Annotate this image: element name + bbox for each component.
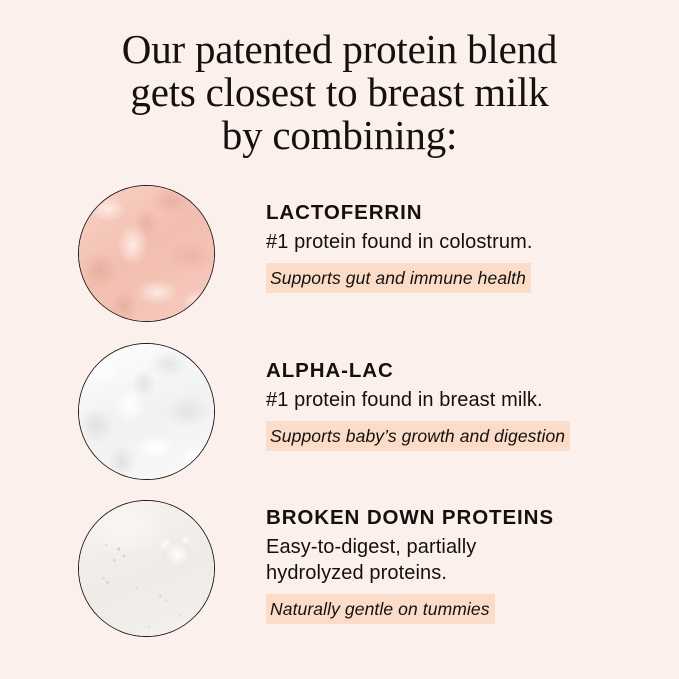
ingredient-title: ALPHA-LAC (266, 358, 666, 384)
ingredient-title: BROKEN DOWN PROTEINS (266, 505, 666, 531)
ingredient-text-block: LACTOFERRIN #1 protein found in colostru… (266, 200, 666, 293)
ingredient-description: #1 protein found in colostrum. (266, 229, 666, 255)
ingredient-badge-wrap: Supports gut and immune health (266, 263, 666, 293)
ingredient-item-lactoferrin: LACTOFERRIN #1 protein found in colostru… (0, 182, 679, 332)
ingredient-badge-wrap: Naturally gentle on tummies (266, 594, 666, 624)
ingredient-description-line-2: hydrolyzed proteins. (266, 562, 447, 584)
white-alpha-lac-powder-swatch (78, 343, 215, 480)
ingredient-text-block: BROKEN DOWN PROTEINS Easy-to-digest, par… (266, 505, 666, 624)
powder-texture (78, 343, 215, 480)
ingredient-title: LACTOFERRIN (266, 200, 666, 226)
headline-line-1: Our patented protein blend (0, 28, 679, 71)
headline-line-3: by combining: (0, 114, 679, 157)
ingredient-description: Easy-to-digest, partially hydrolyzed pro… (266, 534, 666, 586)
ingredient-text-block: ALPHA-LAC #1 protein found in breast mil… (266, 358, 666, 451)
ingredient-badge-wrap: Supports baby’s growth and digestion (266, 421, 666, 451)
headline-line-2: gets closest to breast milk (0, 71, 679, 114)
ingredient-benefit-badge: Supports gut and immune health (266, 263, 531, 293)
powder-texture (78, 185, 215, 322)
hydrolyzed-protein-liquid-swatch (78, 500, 215, 637)
ingredient-item-broken-down-proteins: BROKEN DOWN PROTEINS Easy-to-digest, par… (0, 497, 679, 647)
ingredient-description-line-1: Easy-to-digest, partially (266, 536, 476, 558)
ingredient-benefit-badge: Naturally gentle on tummies (266, 594, 495, 624)
ingredient-item-alpha-lac: ALPHA-LAC #1 protein found in breast mil… (0, 340, 679, 490)
liquid-bubbles-texture (78, 500, 215, 637)
protein-blend-infographic: Our patented protein blend gets closest … (0, 0, 679, 679)
ingredient-benefit-badge: Supports baby’s growth and digestion (266, 421, 570, 451)
ingredient-description: #1 protein found in breast milk. (266, 387, 666, 413)
page-title: Our patented protein blend gets closest … (0, 28, 679, 157)
pink-lactoferrin-powder-swatch (78, 185, 215, 322)
